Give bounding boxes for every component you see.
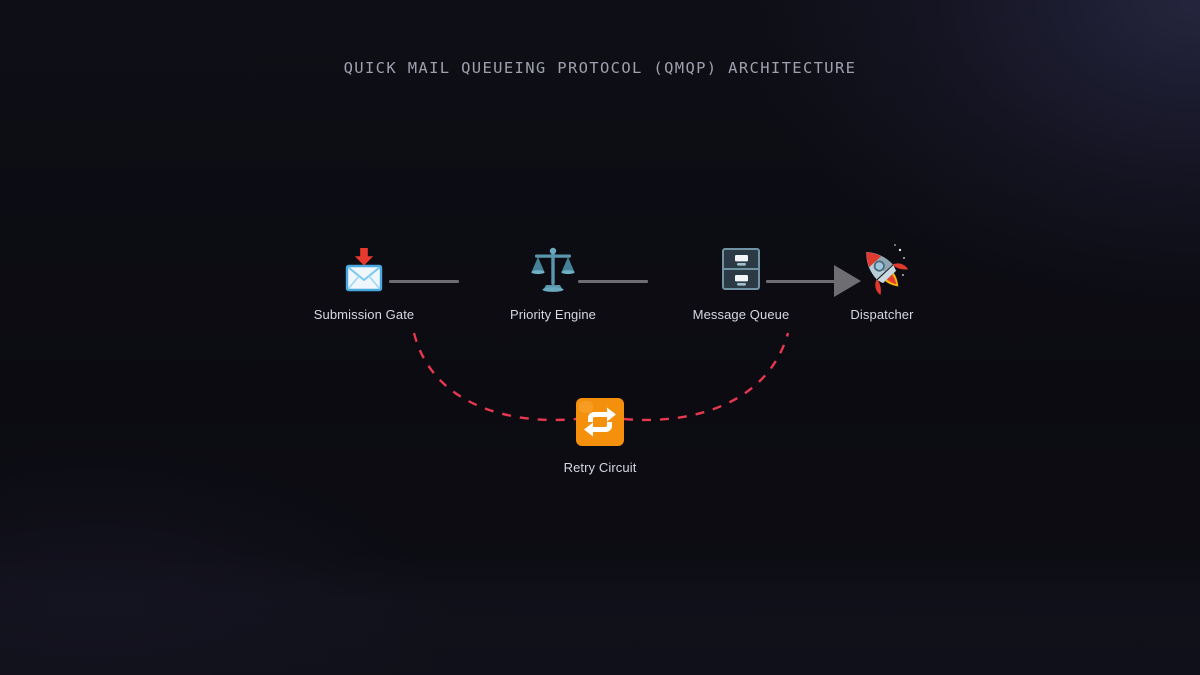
balance-scale-icon: [478, 241, 628, 297]
node-label: Priority Engine: [478, 307, 628, 322]
node-submission-gate[interactable]: Submission Gate: [289, 241, 439, 322]
node-label: Dispatcher: [807, 307, 957, 322]
inbox-tray-icon: [289, 241, 439, 297]
node-dispatcher[interactable]: Dispatcher: [807, 241, 957, 322]
rocket-icon: [807, 241, 957, 297]
diagram-canvas: QUICK MAIL QUEUEING PROTOCOL (QMQP) ARCH…: [0, 0, 1200, 675]
node-label: Message Queue: [666, 307, 816, 322]
file-cabinet-icon: [666, 241, 816, 297]
node-label: Retry Circuit: [525, 460, 675, 475]
architecture-diagram: Submission Gate Priority Engine: [0, 0, 1200, 560]
node-retry-circuit[interactable]: Retry Circuit: [525, 394, 675, 475]
repeat-arrows-icon: [525, 394, 675, 450]
node-priority-engine[interactable]: Priority Engine: [478, 241, 628, 322]
node-message-queue[interactable]: Message Queue: [666, 241, 816, 322]
footer-bar: Vectree Quick Mail Queuing Protocol vect…: [0, 555, 1200, 675]
node-label: Submission Gate: [289, 307, 439, 322]
